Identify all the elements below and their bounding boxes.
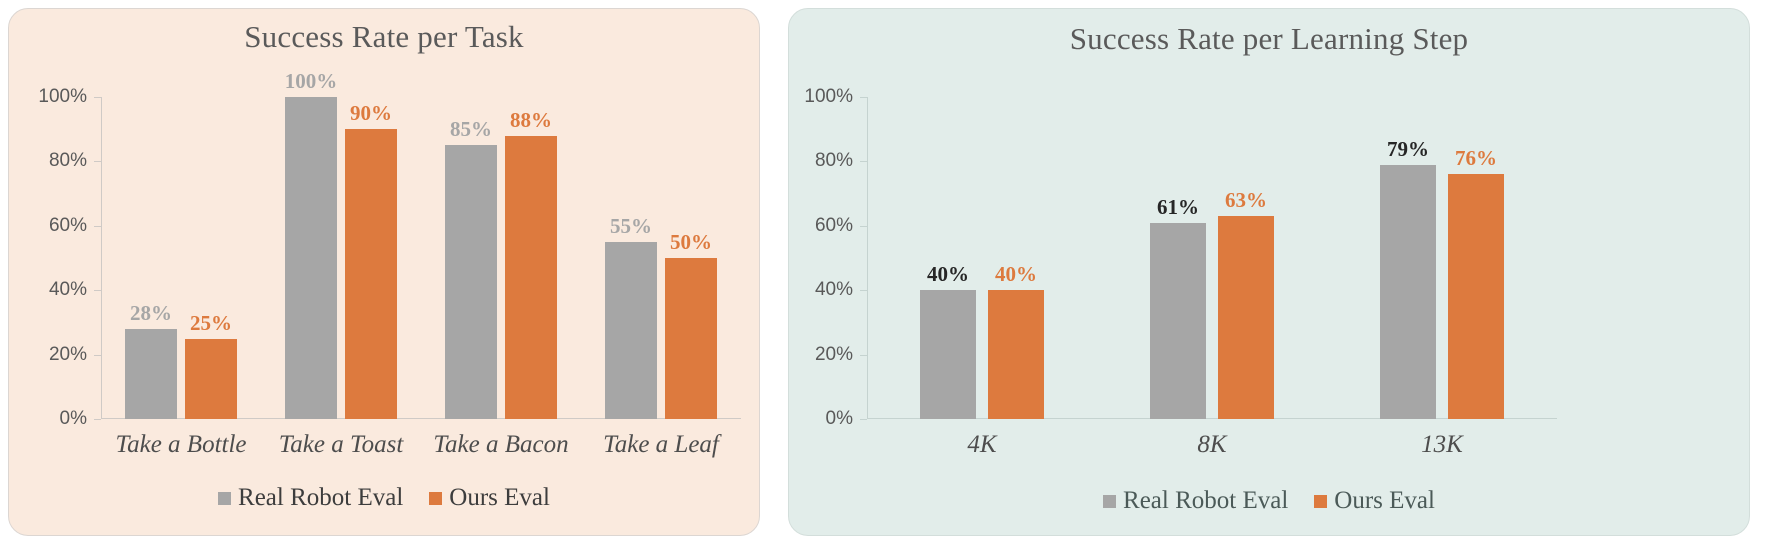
y-axis-tick (860, 290, 867, 291)
bar-ours-eval[interactable]: 40% (988, 290, 1044, 419)
bar-real-robot-eval[interactable]: 40% (920, 290, 976, 419)
bar-value-label: 28% (130, 301, 172, 326)
bar-value-label: 61% (1157, 195, 1199, 220)
bar-value-label: 55% (610, 214, 652, 239)
bar-ours-eval[interactable]: 25% (185, 339, 237, 420)
bar-ours-eval[interactable]: 90% (345, 129, 397, 419)
y-axis-tick-label: 100% (804, 86, 853, 108)
bar-value-label: 88% (510, 108, 552, 133)
page-title-left: Success Rate per Task (9, 19, 759, 55)
bar-value-label: 40% (995, 262, 1037, 287)
y-axis-tick-label: 60% (49, 215, 87, 237)
x-axis-category-label: 8K (1197, 431, 1226, 459)
bar-group: 61%63%8K (1097, 97, 1327, 419)
legend-label: Ours Eval (449, 484, 550, 512)
x-axis-category-label: Take a Bottle (115, 431, 246, 459)
y-axis-tick (860, 161, 867, 162)
bar-ours-eval[interactable]: 88% (505, 136, 557, 419)
y-axis-tick-label: 40% (815, 279, 853, 301)
bar-real-robot-eval[interactable]: 100% (285, 97, 337, 419)
bar-real-robot-eval[interactable]: 79% (1380, 165, 1436, 419)
legend-item-real-robot-eval[interactable]: Real Robot Eval (1103, 487, 1288, 515)
legend-label: Real Robot Eval (238, 484, 403, 512)
y-axis-tick (94, 355, 101, 356)
bar-group: 55%50%Take a Leaf (581, 97, 741, 419)
x-axis-category-label: Take a Toast (279, 431, 404, 459)
legend-label: Ours Eval (1334, 487, 1435, 515)
y-axis-tick-label: 20% (49, 344, 87, 366)
bar-group: 28%25%Take a Bottle (101, 97, 261, 419)
legend-right: Real Robot Eval Ours Eval (789, 487, 1749, 515)
bar-real-robot-eval[interactable]: 61% (1150, 223, 1206, 419)
y-axis-tick-label: 20% (815, 344, 853, 366)
bar-ours-eval[interactable]: 63% (1218, 216, 1274, 419)
y-axis-tick-label: 40% (49, 279, 87, 301)
bar-value-label: 50% (670, 230, 712, 255)
x-axis-category-label: Take a Leaf (603, 431, 719, 459)
bar-group: 79%76%13K (1327, 97, 1557, 419)
x-axis-category-label: 4K (967, 431, 996, 459)
bar-value-label: 100% (285, 69, 338, 94)
y-axis-tick-label: 60% (815, 215, 853, 237)
y-axis-tick (94, 226, 101, 227)
legend-item-ours-eval[interactable]: Ours Eval (429, 484, 550, 512)
y-axis-tick (94, 161, 101, 162)
y-axis-tick (94, 97, 101, 98)
bar-value-label: 90% (350, 101, 392, 126)
bar-real-robot-eval[interactable]: 85% (445, 145, 497, 419)
bar-value-label: 85% (450, 117, 492, 142)
bar-group: 40%40%4K (867, 97, 1097, 419)
legend-item-ours-eval[interactable]: Ours Eval (1314, 487, 1435, 515)
y-axis-tick-label: 100% (38, 86, 87, 108)
legend-swatch-icon-orange (429, 492, 442, 505)
y-axis-tick (860, 419, 867, 420)
bar-real-robot-eval[interactable]: 28% (125, 329, 177, 419)
y-axis-tick-label: 0% (826, 408, 853, 430)
y-axis-tick (94, 290, 101, 291)
y-axis-tick (94, 419, 101, 420)
legend-item-real-robot-eval[interactable]: Real Robot Eval (218, 484, 403, 512)
plot-area-right: 0%20%40%60%80%100%40%40%4K61%63%8K79%76%… (867, 97, 1557, 419)
figure-two-bar-charts: Success Rate per Task 0%20%40%60%80%100%… (0, 0, 1774, 550)
y-axis-tick (860, 97, 867, 98)
bar-value-label: 25% (190, 311, 232, 336)
legend-swatch-icon-gray (218, 492, 231, 505)
plot-area-left: 0%20%40%60%80%100%28%25%Take a Bottle100… (101, 97, 741, 419)
bar-real-robot-eval[interactable]: 55% (605, 242, 657, 419)
legend-label: Real Robot Eval (1123, 487, 1288, 515)
bar-ours-eval[interactable]: 76% (1448, 174, 1504, 419)
y-axis-tick-label: 80% (815, 150, 853, 172)
bar-group: 85%88%Take a Bacon (421, 97, 581, 419)
y-axis-tick-label: 80% (49, 150, 87, 172)
x-axis-category-label: Take a Bacon (433, 431, 568, 459)
y-axis-tick (860, 226, 867, 227)
page-title-right: Success Rate per Learning Step (789, 21, 1749, 57)
bar-value-label: 76% (1455, 146, 1497, 171)
legend-swatch-icon-orange (1314, 495, 1327, 508)
y-axis-tick (860, 355, 867, 356)
bar-value-label: 40% (927, 262, 969, 287)
bar-ours-eval[interactable]: 50% (665, 258, 717, 419)
chart-panel-success-rate-per-task: Success Rate per Task 0%20%40%60%80%100%… (8, 8, 760, 536)
legend-left: Real Robot Eval Ours Eval (9, 484, 759, 512)
x-axis-category-label: 13K (1421, 431, 1463, 459)
y-axis-tick-label: 0% (60, 408, 87, 430)
bar-group: 100%90%Take a Toast (261, 97, 421, 419)
bar-value-label: 79% (1387, 137, 1429, 162)
bar-value-label: 63% (1225, 188, 1267, 213)
chart-panel-success-rate-per-learning-step: Success Rate per Learning Step 0%20%40%6… (788, 8, 1750, 536)
legend-swatch-icon-gray (1103, 495, 1116, 508)
